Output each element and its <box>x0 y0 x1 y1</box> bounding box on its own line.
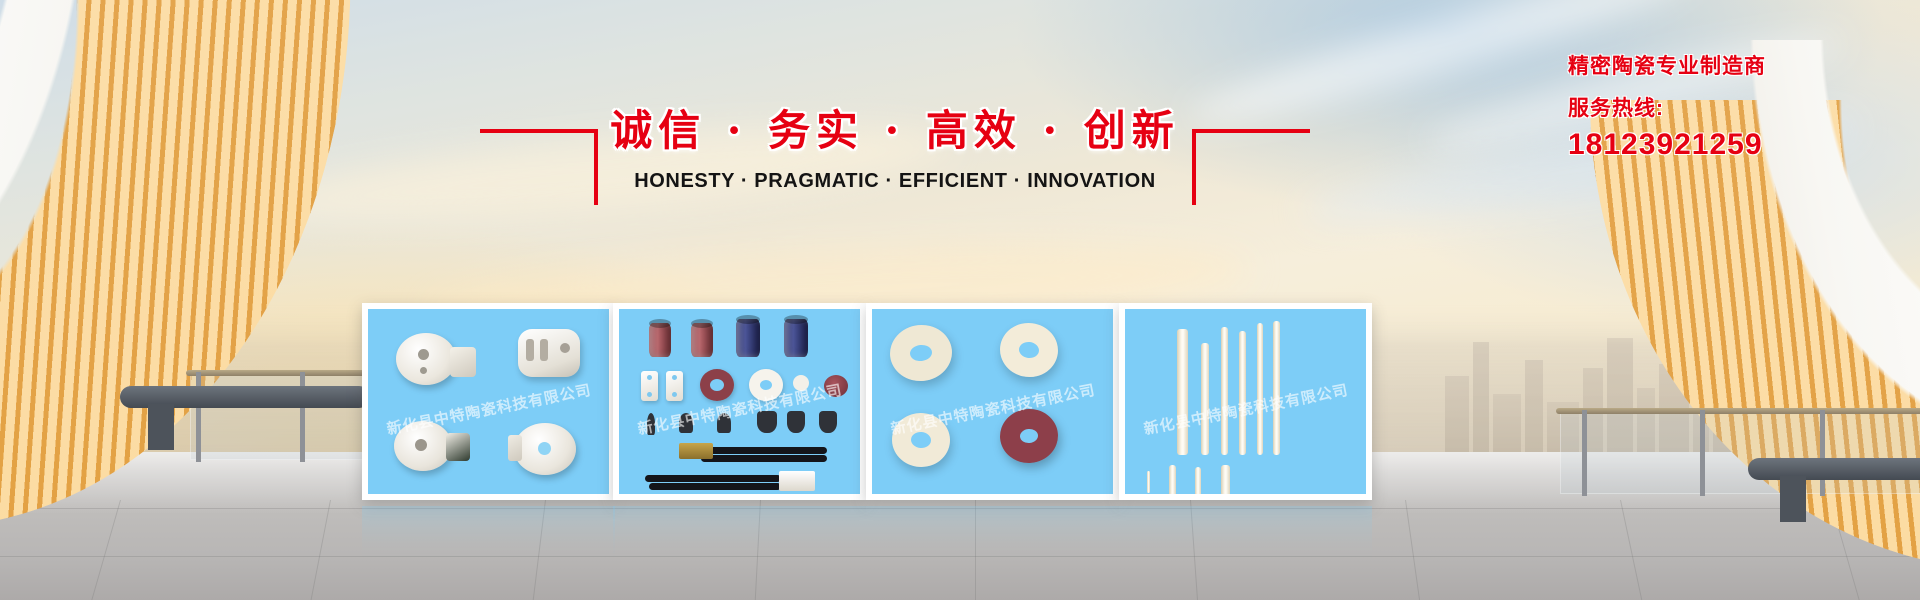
ceramic-ring-white <box>749 369 783 401</box>
ceramic-rod <box>1221 327 1228 455</box>
wire-connector <box>679 443 713 459</box>
hotline-phone[interactable]: 18123921259 <box>1568 126 1908 164</box>
base-hole <box>420 367 427 374</box>
base-hole <box>415 439 427 451</box>
base-slot <box>526 339 534 361</box>
metal-clip <box>757 411 777 433</box>
metal-contact <box>647 413 655 435</box>
wire-lead <box>697 447 827 454</box>
product-panel-2[interactable]: 新化县中特陶瓷科技有限公司 <box>613 303 866 500</box>
handrail-right <box>1556 408 1920 414</box>
tile-seam <box>975 500 976 600</box>
base-tab <box>508 435 522 461</box>
rail-post <box>1820 410 1825 496</box>
plate-hole <box>672 375 677 380</box>
rail-post <box>1582 410 1587 496</box>
ceramic-ring-small-white <box>793 375 809 391</box>
bench-right <box>1748 458 1920 480</box>
product-panel-4[interactable]: 新化县中特陶瓷科技有限公司 <box>1119 303 1372 500</box>
ceramic-seal-ring-large <box>890 411 952 469</box>
ceramic-pin <box>1169 465 1176 494</box>
base-tab <box>446 433 470 461</box>
metal-clip <box>819 411 837 433</box>
base-hole <box>538 442 551 455</box>
product-image-3: 新化县中特陶瓷科技有限公司 <box>872 309 1113 494</box>
ceramic-sleeve-red <box>649 323 671 357</box>
tile-seam <box>0 508 1920 509</box>
hotline-label: 服务热线: <box>1568 94 1908 124</box>
bench-leg <box>148 404 174 450</box>
ceramic-pin <box>1147 471 1150 493</box>
slogan-english: HONESTY · PRAGMATIC · EFFICIENT · INNOVA… <box>575 167 1215 195</box>
product-image-4: 新化县中特陶瓷科技有限公司 <box>1125 309 1366 494</box>
ceramic-rod <box>1177 329 1188 455</box>
glass-balustrade-right <box>1560 412 1920 494</box>
ceramic-pin <box>1195 467 1201 494</box>
wire-lead <box>701 455 827 462</box>
rail-post <box>1700 410 1705 496</box>
base-slot <box>540 339 548 361</box>
ceramic-sleeve-blue <box>736 319 760 357</box>
ceramic-disc-maroon <box>824 375 848 397</box>
promo-banner: 诚信 · 务实 · 高效 · 创新 HONESTY · PRAGMATIC · … <box>0 0 1920 600</box>
product-panel-1[interactable]: 新化县中特陶瓷科技有限公司 <box>362 303 615 500</box>
ceramic-seal-ring-large <box>887 322 955 384</box>
ceramic-rod <box>1201 343 1209 455</box>
product-panel-3[interactable]: 新化县中特陶瓷科技有限公司 <box>866 303 1119 500</box>
product-image-1: 新化县中特陶瓷科技有限公司 <box>368 309 609 494</box>
base-tab <box>450 347 476 377</box>
plate-hole <box>647 392 652 397</box>
ceramic-seal-ring-large <box>997 320 1061 381</box>
ceramic-sleeve-blue <box>784 319 808 357</box>
wire-lead <box>645 475 781 482</box>
metal-contact <box>717 413 731 433</box>
metal-clip <box>787 411 805 433</box>
product-image-2: 新化县中特陶瓷科技有限公司 <box>619 309 860 494</box>
ceramic-ring-maroon <box>700 369 734 401</box>
wire-connector <box>779 471 815 491</box>
metal-contact <box>679 413 693 433</box>
plate-hole <box>672 392 677 397</box>
slogan-block: 诚信 · 务实 · 高效 · 创新 HONESTY · PRAGMATIC · … <box>575 105 1215 215</box>
base-hole <box>418 349 429 360</box>
ceramic-seal-ring-maroon <box>998 407 1060 466</box>
slogan-chinese: 诚信 · 务实 · 高效 · 创新 <box>575 103 1215 159</box>
ceramic-rod <box>1273 321 1280 455</box>
ceramic-rod <box>1257 323 1263 455</box>
company-tagline: 精密陶瓷专业制造商 <box>1568 52 1908 82</box>
ceramic-sleeve-red <box>691 323 713 357</box>
plate-hole <box>647 375 652 380</box>
base-hole <box>560 343 570 353</box>
bench-leg <box>1780 476 1806 522</box>
ceramic-rod <box>1239 331 1246 455</box>
wire-lead <box>649 483 781 490</box>
ceramic-pin <box>1221 465 1230 494</box>
contact-block: 精密陶瓷专业制造商 服务热线: 18123921259 <box>1568 52 1908 164</box>
